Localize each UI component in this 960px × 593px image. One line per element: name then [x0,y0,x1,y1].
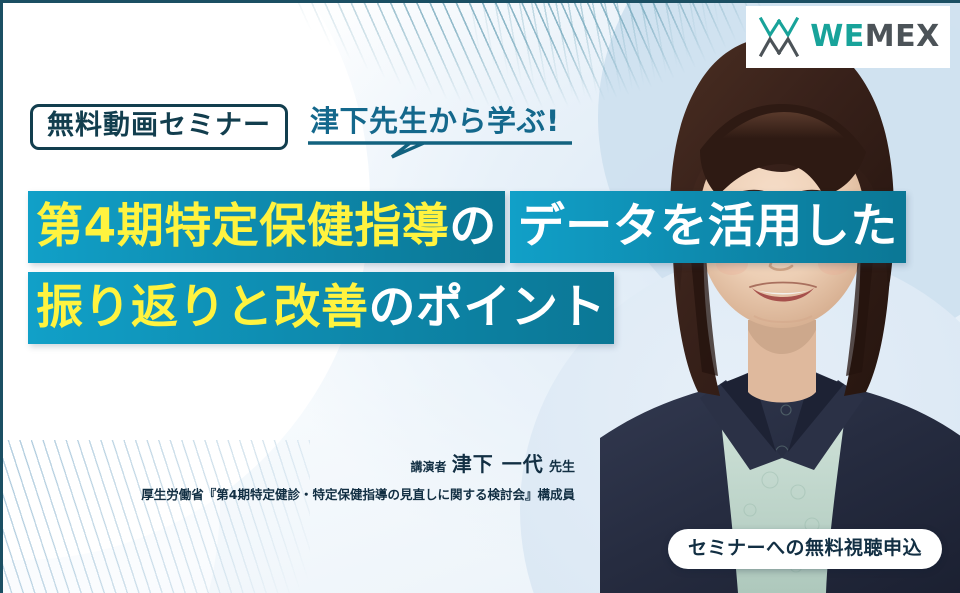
learn-from-lead-text: 津下先生から学ぶ! [310,106,560,136]
seminar-signup-button[interactable]: セミナーへの無料視聴申込 [668,529,942,569]
speaker-credit: 講演者 津下 一代 先生 厚生労働省『第4期特定健診・特定保健指導の見直しに関す… [0,452,575,503]
free-video-seminar-badge: 無料動画セミナー [30,104,288,150]
logo-word-we: WE [810,19,865,54]
headline-line-1-plain: の [449,199,497,254]
headline-line-3-plain: のポイント [369,280,607,335]
speaker-name-line: 講演者 津下 一代 先生 [0,452,575,476]
wemex-wordmark: WEMEX [810,22,940,52]
headline: 第4期特定保健指導の データを活用した 振り返りと改善のポイント [28,182,960,344]
speaker-honorific: 先生 [549,460,575,475]
seminar-banner: WEMEX 無料動画セミナー 津下先生から学ぶ! 第4期特定保健指導の データを… [0,0,960,593]
speaker-name: 津下 一代 [452,452,544,476]
wemex-chevron-mark [756,16,802,58]
headline-line-1: 第4期特定保健指導の [28,191,505,263]
learn-from-lead: 津下先生から学ぶ! [310,106,560,148]
eyebrow-row: 無料動画セミナー 津下先生から学ぶ! [30,104,560,150]
headline-line-3-highlight: 振り返りと改善 [36,280,369,335]
logo-word-mex: MEX [865,19,940,54]
headline-line-3: 振り返りと改善のポイント [28,272,614,344]
speaker-role-label: 講演者 [411,460,447,474]
speech-tail-underline-icon [306,138,574,160]
speaker-affiliation: 厚生労働省『第4期特定健診・特定保健指導の見直しに関する検討会』構成員 [0,484,575,503]
headline-line-2-plain: データを活用した [518,199,898,254]
wemex-logo: WEMEX [746,6,950,68]
headline-line-1-highlight: 第4期特定保健指導 [36,199,449,254]
headline-line-2: データを活用した [510,191,906,263]
left-border-rule [0,0,3,593]
